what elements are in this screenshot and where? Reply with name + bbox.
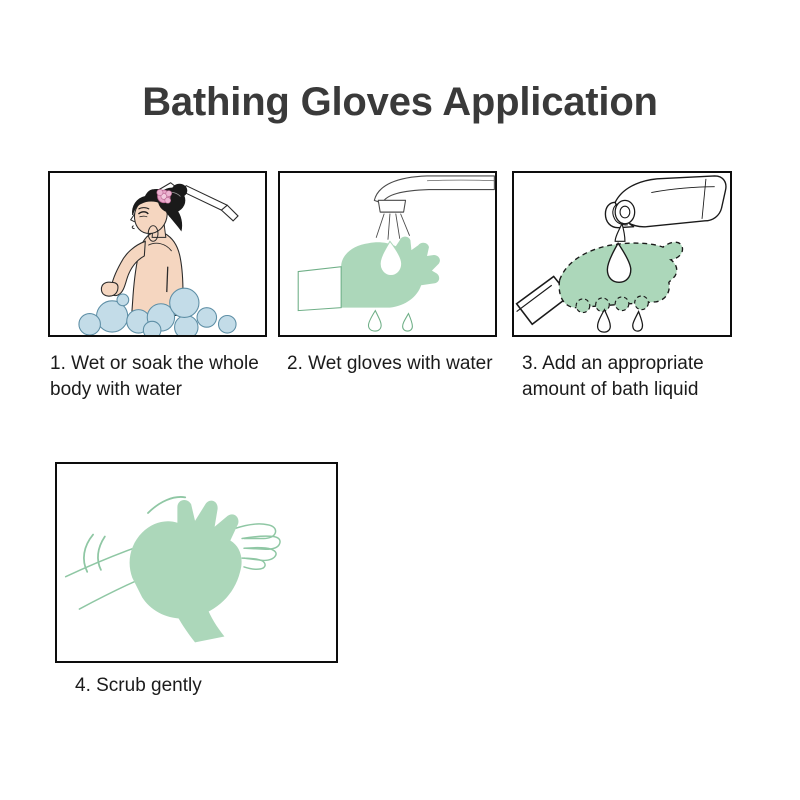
page-title: Bathing Gloves Application	[0, 78, 800, 126]
instruction-graphic: Bathing Gloves Application	[0, 0, 800, 800]
step-2-illustration	[278, 171, 497, 337]
step-3-illustration	[512, 171, 732, 337]
step-3-caption: 3. Add an appropriate amount of bath liq…	[522, 351, 737, 402]
step-4-illustration	[55, 462, 338, 663]
step-4-caption: 4. Scrub gently	[75, 673, 335, 699]
step-2-caption: 2. Wet gloves with water	[287, 351, 502, 377]
step-1-caption: 1. Wet or soak the whole body with water	[50, 351, 260, 402]
step-1-illustration	[48, 171, 267, 337]
